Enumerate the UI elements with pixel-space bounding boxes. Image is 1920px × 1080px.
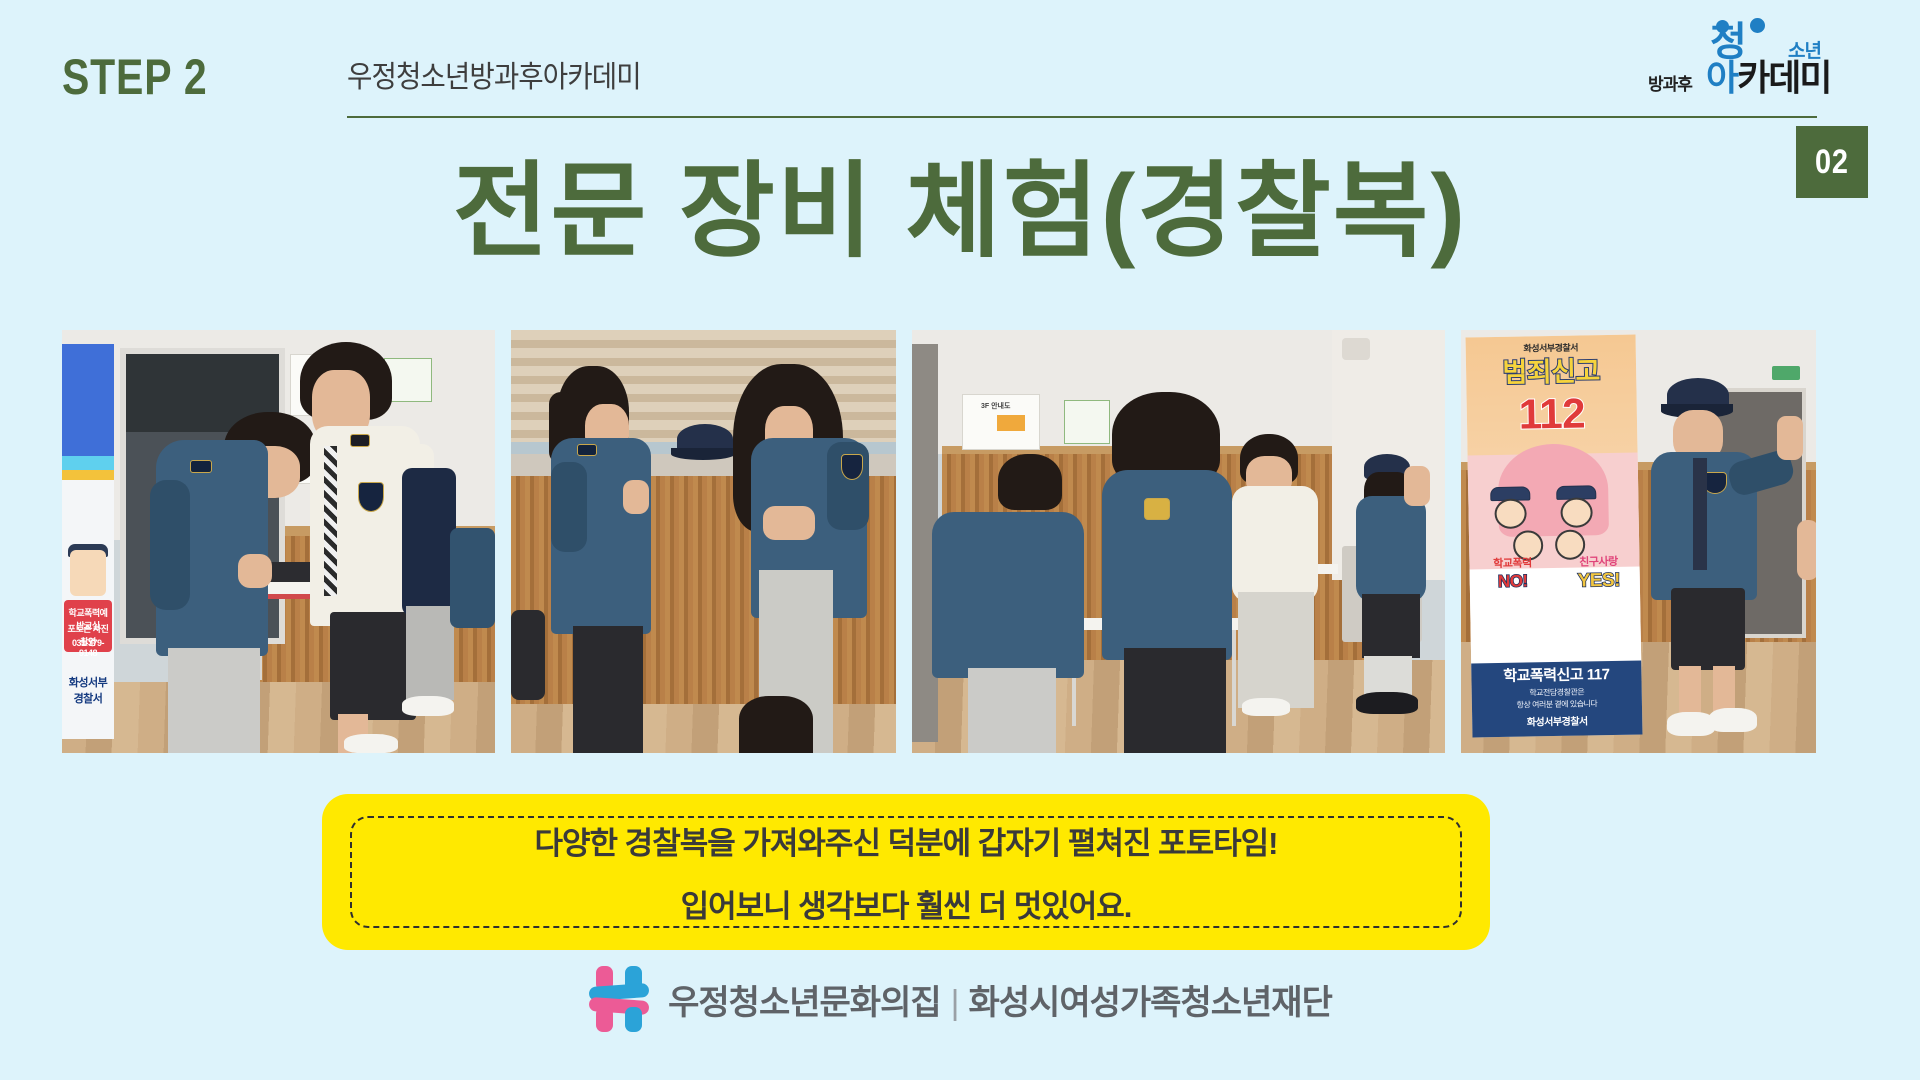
mascot-1-face	[1494, 498, 1527, 529]
banner-line-4: 화성서부경찰서	[65, 674, 111, 706]
footer-separator: |	[951, 984, 959, 1022]
spare-uniform	[450, 528, 495, 628]
student-3-body	[402, 468, 456, 616]
program-name: 우정청소년방과후아카데미	[347, 52, 1267, 96]
foundation-logo-icon	[588, 965, 650, 1033]
girl-1-rank-patch	[577, 444, 597, 456]
caption-box: 다양한 경찰복을 가져와주신 덕분에 갑자기 펼쳐진 포토타임! 입어보니 생각…	[322, 794, 1490, 950]
logo-dot-right	[1750, 18, 1765, 33]
slide-page: STEP 2 우정청소년방과후아카데미 청 소년 방과후 아카데미 02 전문 …	[0, 0, 1920, 1080]
photo-1-scene: 학교폭력예방교실 포토존 사진촬영 031-379-9148 화성서부경찰서	[62, 330, 495, 753]
student-d-arm	[1404, 466, 1430, 506]
caption-line-1: 다양한 경찰복을 가져와주신 덕분에 갑자기 펼쳐진 포토타임!	[535, 818, 1278, 863]
banner-hotline-title: 학교폭력신고 117	[1471, 666, 1641, 685]
student-3-pants	[406, 606, 454, 700]
girl-2-hands	[763, 506, 815, 540]
logo-bar-bottom-right	[625, 1007, 642, 1032]
photo-4-scene: 화성서부경찰서 범죄신고 112 NO! 학교폭력 친구사랑 YES!	[1461, 330, 1816, 753]
logo-academy-first-char: 아	[1706, 57, 1737, 98]
mascot-3-face	[1513, 530, 1544, 561]
speaker	[1342, 338, 1370, 360]
student-c-tshirt	[1232, 486, 1318, 602]
logo-cheong-char: 청	[1710, 22, 1747, 62]
police-emblem-patch	[358, 482, 384, 512]
floor	[511, 704, 896, 753]
student-leg-left	[1679, 666, 1701, 718]
student-2-tie	[324, 446, 337, 596]
page-title: 전문 장비 체험(경찰복)	[0, 152, 1920, 272]
crime-report-banner: 화성서부경찰서 범죄신고 112 NO! 학교폭력 친구사랑 YES!	[1466, 335, 1643, 738]
footer-foundation: 화성시여성가족청소년재단	[969, 984, 1332, 1022]
mascot-4-face	[1555, 529, 1586, 560]
student-d-shoes	[1356, 692, 1418, 714]
student-1-hands	[238, 554, 272, 588]
girl-1-pants	[573, 626, 643, 753]
police-cap-brim	[671, 448, 735, 460]
photo-2	[511, 330, 896, 753]
girl-2-emblem-patch	[841, 454, 863, 480]
girl-1-hands	[623, 480, 649, 514]
student-tie	[1693, 458, 1707, 570]
student-c-pants	[1238, 592, 1314, 708]
student-v-sign-hand	[1777, 416, 1803, 460]
caption-dashed-border: 다양한 경찰복을 가져와주신 덕분에 갑자기 펼쳐진 포토타임! 입어보니 생각…	[350, 816, 1462, 928]
police-roll-banner: 학교폭력예방교실 포토존 사진촬영 031-379-9148 화성서부경찰서	[62, 344, 114, 739]
logo-prefix-text: 방과후	[1648, 70, 1692, 95]
student-1-sleeve	[150, 480, 190, 610]
floor-map-poster: 3F 안내도	[962, 394, 1040, 450]
student-a-hair	[998, 454, 1062, 510]
student-a-pants	[968, 668, 1056, 753]
student-shorts	[1671, 588, 1745, 670]
girl-1-sleeve	[551, 462, 587, 552]
student-1-rank-patch	[190, 460, 212, 473]
student-3-shoe	[402, 696, 454, 716]
page-header: STEP 2 우정청소년방과후아카데미	[62, 42, 1858, 120]
academy-logo: 청 소년 방과후 아카데미	[1648, 18, 1868, 102]
student-2-shoulder-patch	[350, 434, 370, 447]
photo-4: 화성서부경찰서 범죄신고 112 NO! 학교폭력 친구사랑 YES!	[1461, 330, 1816, 753]
student-a-uniform-shirt	[932, 512, 1084, 678]
photo-3: 3F 안내도	[912, 330, 1445, 753]
student-shoe-left	[1667, 712, 1715, 736]
student-2-shoe	[344, 734, 398, 753]
photo-3-scene: 3F 안내도	[912, 330, 1445, 753]
step-label: STEP 2	[62, 48, 207, 106]
student-1-pants	[168, 648, 260, 753]
page-footer: 우정청소년문화의집|화성시여성가족청소년재단	[0, 965, 1920, 1033]
caption-line-2: 입어보니 생각보다 훨씬 더 멋있어요.	[681, 881, 1132, 926]
student-d-shorts	[1362, 594, 1420, 658]
photo-1: 학교폭력예방교실 포토존 사진촬영 031-379-9148 화성서부경찰서	[62, 330, 495, 753]
photo-gallery: 학교폭력예방교실 포토존 사진촬영 031-379-9148 화성서부경찰서	[62, 330, 1820, 753]
logo-bottom-row: 방과후 아카데미	[1648, 58, 1868, 102]
exit-sign	[1772, 366, 1800, 380]
banner-report-number: 112	[1466, 391, 1637, 438]
student-c-shoe	[1242, 698, 1290, 716]
student-d-uniform-shirt	[1356, 496, 1426, 602]
seated-person	[511, 610, 545, 700]
photo-2-scene	[511, 330, 896, 753]
foreground-head	[739, 696, 813, 753]
footer-credits: 우정청소년문화의집|화성시여성가족청소년재단	[668, 975, 1332, 1024]
banner-line-3: 031-379-9148	[65, 638, 111, 658]
banner-report-title: 범죄신고	[1466, 357, 1636, 388]
student-b-emblem-patch	[1144, 498, 1170, 520]
footer-organization: 우정청소년문화의집	[668, 984, 941, 1022]
header-divider	[347, 116, 1817, 118]
logo-academy-text: 아카데미	[1706, 58, 1831, 98]
student-shoe-right	[1709, 708, 1757, 732]
floor-map-label: 3F 안내도	[981, 401, 1010, 411]
student-b-shorts	[1124, 648, 1226, 753]
mascot-2-face	[1560, 497, 1593, 528]
bystander-hand	[1797, 520, 1816, 580]
logo-bar-bottom-left	[596, 1007, 613, 1032]
program-name-wrap: 우정청소년방과후아카데미	[347, 52, 1347, 96]
wifi-poster	[1064, 400, 1110, 444]
